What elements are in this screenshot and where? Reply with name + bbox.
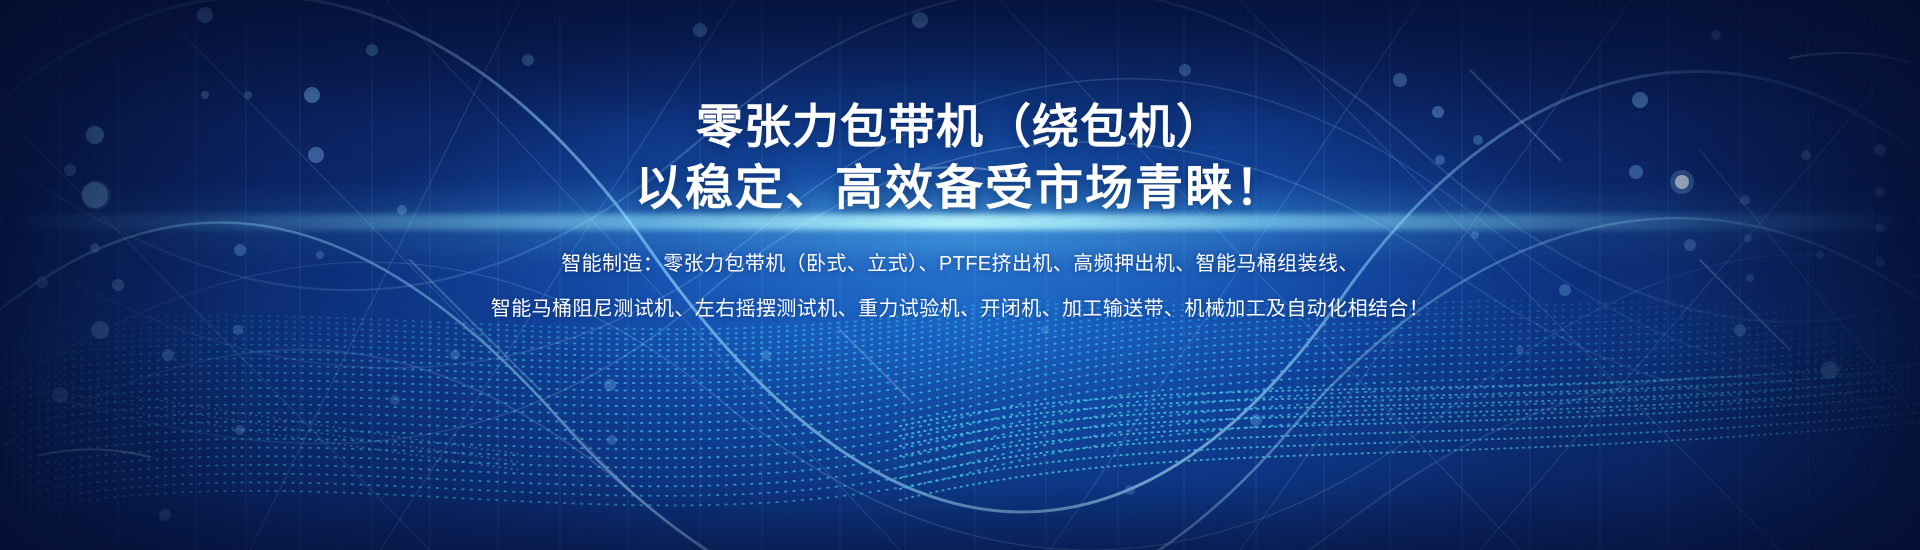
subtitle-block: 智能制造：零张力包带机（卧式、立式）、PTFE挤出机、高频押出机、智能马桶组装线… [491,242,1429,332]
promo-banner: 零张力包带机（绕包机） 以稳定、高效备受市场青睐！ 智能制造：零张力包带机（卧式… [0,0,1920,550]
banner-content: 零张力包带机（绕包机） 以稳定、高效备受市场青睐！ 智能制造：零张力包带机（卧式… [0,0,1920,550]
subtitle-line-1: 智能制造：零张力包带机（卧式、立式）、PTFE挤出机、高频押出机、智能马桶组装线… [491,242,1429,287]
subtitle-line-2: 智能马桶阻尼测试机、左右摇摆测试机、重力试验机、开闭机、加工输送带、机械加工及自… [491,287,1429,332]
headline-line-1: 零张力包带机（绕包机） [696,96,1224,158]
headline-line-2: 以稳定、高效备受市场青睐！ [635,158,1285,220]
